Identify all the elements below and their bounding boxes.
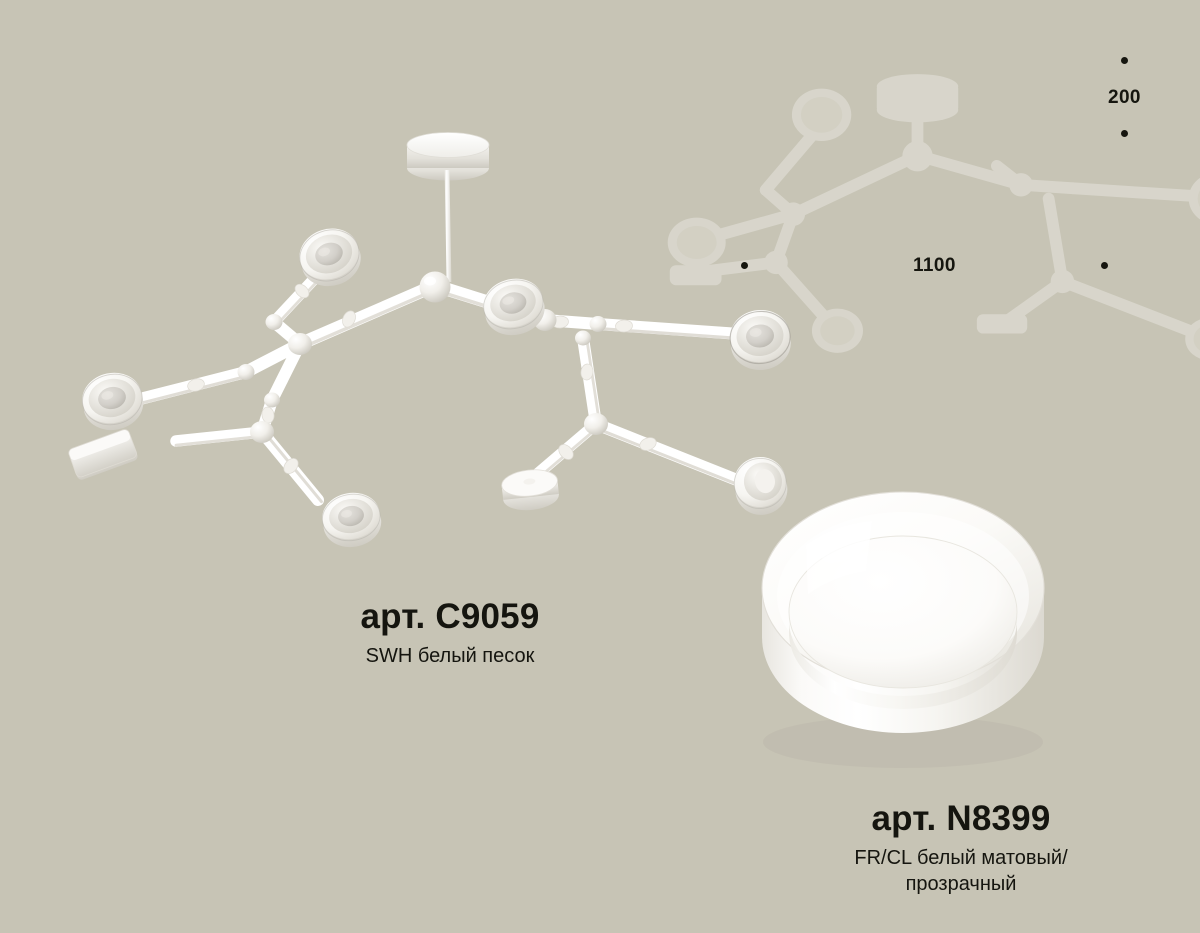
chandelier-article-number: арт. C9059 xyxy=(206,598,694,636)
ceiling-light-article-number: арт. N8399 xyxy=(712,800,1200,838)
ceiling-light-illustration xyxy=(0,0,1200,933)
chandelier-finish-description: SWH белый песок xyxy=(206,643,694,669)
ceiling-light-finish-description: FR/CL белый матовый/ прозрачный xyxy=(712,845,1200,898)
dimension-dot-width-right xyxy=(1101,262,1108,269)
chandelier-caption: арт. C9059 SWH белый песок xyxy=(206,598,694,669)
dimension-dot-width-left xyxy=(741,262,748,269)
dimension-dot-height-bottom xyxy=(1121,130,1128,137)
ceiling-light-caption: арт. N8399 FR/CL белый матовый/ прозрачн… xyxy=(712,800,1200,898)
dimension-label-height: 200 xyxy=(1108,87,1141,109)
product-sheet: 1100 200 арт. C9059 SWH белый песок арт.… xyxy=(0,0,1200,933)
dimension-dot-height-top xyxy=(1121,57,1128,64)
dimension-label-width: 1100 xyxy=(913,255,956,277)
